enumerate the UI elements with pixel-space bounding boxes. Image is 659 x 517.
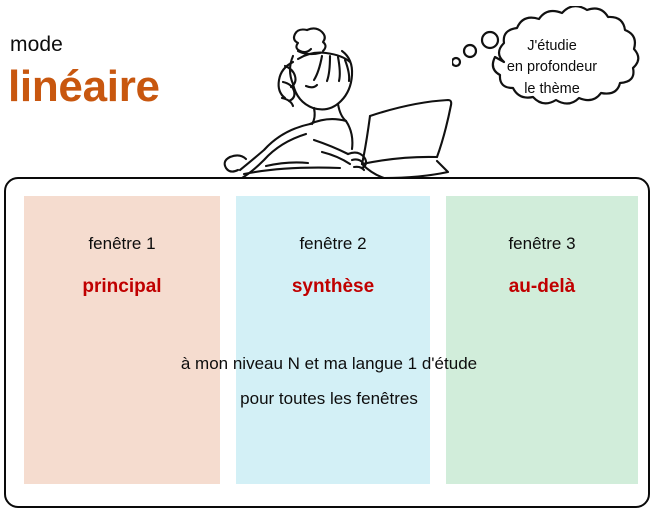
thought-line-2: en profondeur — [507, 57, 597, 78]
column-1-keyword: principal — [24, 276, 220, 298]
thought-bubble: J'étudie en profondeur le thème — [452, 6, 652, 128]
thought-bubble-text: J'étudie en profondeur le thème — [452, 6, 652, 128]
column-3-title: fenêtre 3 — [446, 234, 638, 254]
column-2-keyword: synthèse — [236, 276, 430, 298]
person-studying-at-laptop-illustration — [210, 4, 460, 178]
column-fenetre-1[interactable]: fenêtre 1 principal — [24, 196, 220, 484]
column-fenetre-2[interactable]: fenêtre 2 synthèse — [236, 196, 430, 484]
mode-value: linéaire — [8, 64, 160, 110]
column-fenetre-3[interactable]: fenêtre 3 au-delà — [446, 196, 638, 484]
windows-panel: fenêtre 1 principal fenêtre 2 synthèse f… — [4, 177, 650, 508]
mode-label: mode — [10, 34, 63, 55]
column-2-title: fenêtre 2 — [236, 234, 430, 254]
header: mode linéaire — [0, 0, 659, 178]
column-3-keyword: au-delà — [446, 276, 638, 298]
thought-line-3: le thème — [524, 79, 580, 100]
thought-line-1: J'étudie — [527, 36, 577, 57]
column-1-title: fenêtre 1 — [24, 234, 220, 254]
